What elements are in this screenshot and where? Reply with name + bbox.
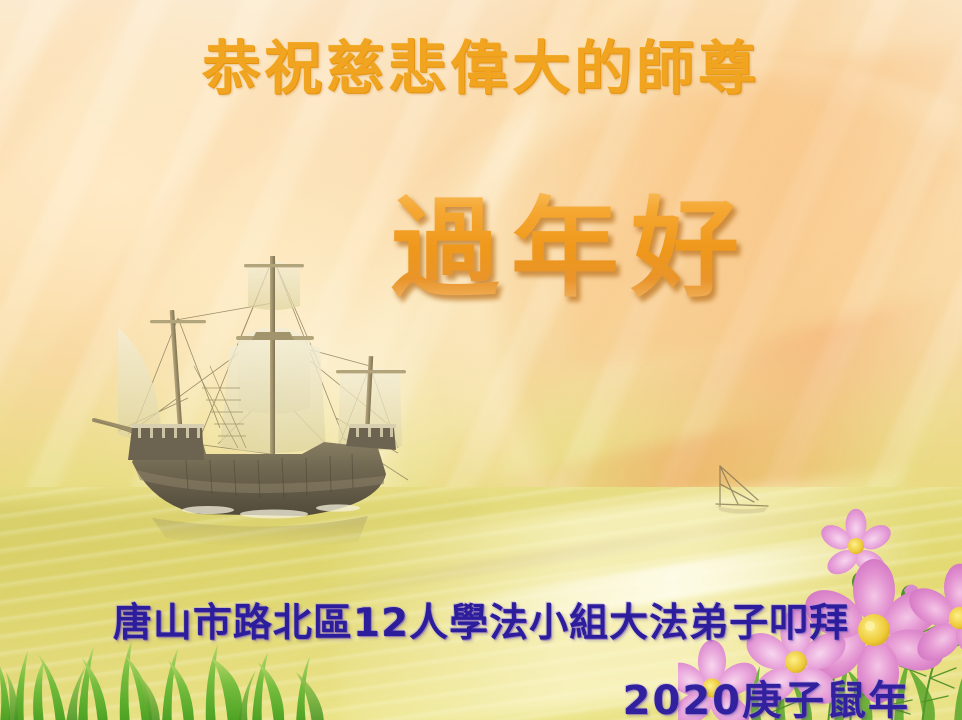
year-text: 2020庚子鼠年: [623, 668, 910, 720]
new-year-greeting-card: 恭祝慈悲偉大的師尊 過年好 過年好 唐山市路北區12人學法小組大法弟子叩拜 20…: [0, 0, 962, 720]
main-greeting: 過年好: [0, 162, 962, 318]
signature-text: 唐山市路北區12人學法小組大法弟子叩拜: [0, 592, 962, 648]
greeting-title: 恭祝慈悲偉大的師尊: [0, 21, 962, 105]
